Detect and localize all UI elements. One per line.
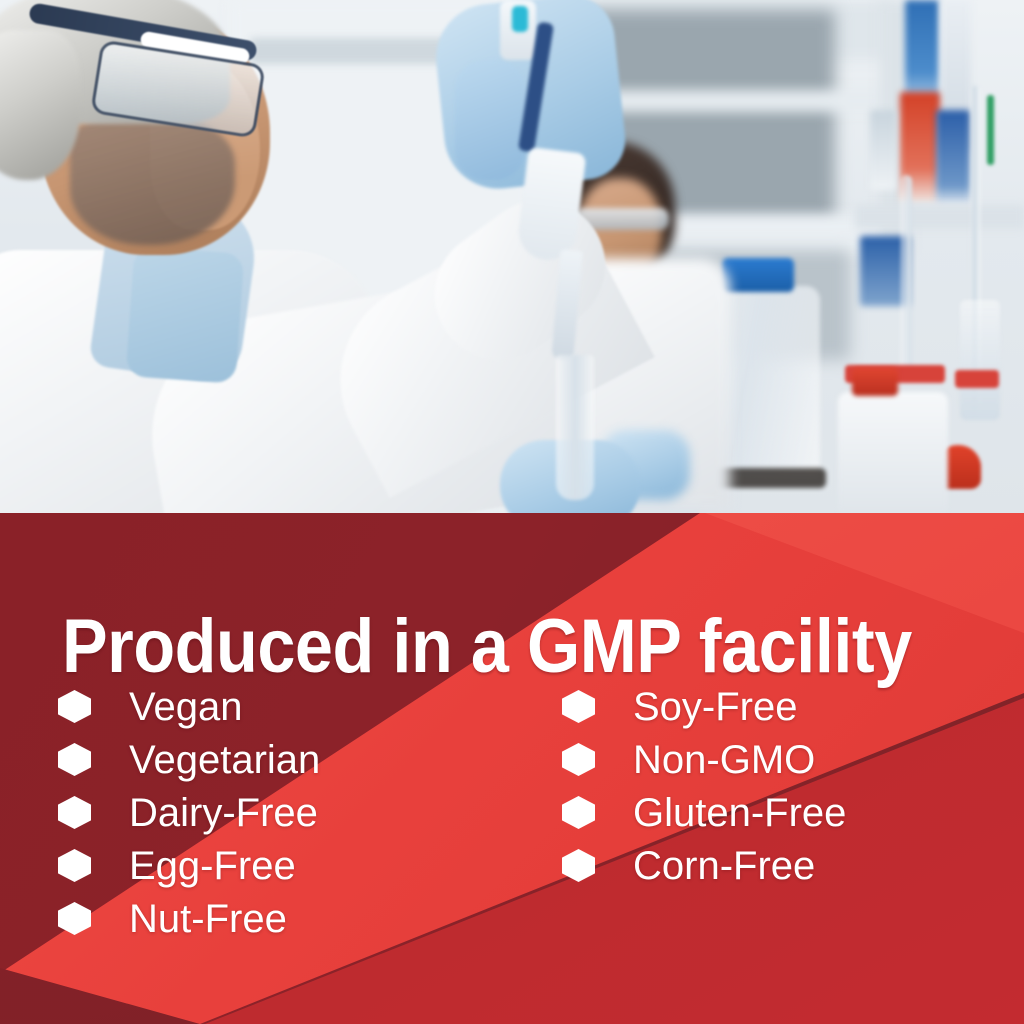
page-title: Produced in a GMP facility (62, 609, 912, 685)
glove-thumb (455, 60, 525, 180)
shelf-board (855, 205, 1024, 229)
list-item: Vegan (58, 680, 510, 733)
white-jug (838, 392, 948, 516)
test-tube (556, 355, 594, 500)
hexagon-bullet-icon (58, 690, 91, 723)
claims-column-left: Vegan Vegetarian Dairy-Free Egg-Free Nut… (0, 680, 510, 945)
hexagon-bullet-icon (562, 690, 595, 723)
hexagon-bullet-icon (562, 796, 595, 829)
jug-red-cap (852, 368, 898, 396)
claim-label: Non-GMO (633, 740, 815, 780)
glass-cylinder (960, 300, 1000, 420)
tubing (900, 175, 912, 375)
hexagon-bullet-icon (58, 743, 91, 776)
claim-label: Nut-Free (129, 899, 287, 939)
burette-green-marking (987, 95, 994, 165)
claim-label: Dairy-Free (129, 793, 318, 833)
red-clamp-2 (955, 370, 999, 388)
claims-columns: Vegan Vegetarian Dairy-Free Egg-Free Nut… (0, 680, 1024, 945)
list-item: Egg-Free (58, 839, 510, 892)
hexagon-bullet-icon (58, 849, 91, 882)
list-item: Non-GMO (562, 733, 1022, 786)
claim-label: Corn-Free (633, 846, 815, 886)
list-item: Vegetarian (58, 733, 510, 786)
list-item: Dairy-Free (58, 786, 510, 839)
bottle-blue-cap (722, 258, 794, 292)
hexagon-bullet-icon (562, 849, 595, 882)
list-item: Corn-Free (562, 839, 1022, 892)
claim-label: Egg-Free (129, 846, 296, 886)
claim-label: Vegan (129, 687, 242, 727)
hexagon-bullet-icon (562, 743, 595, 776)
shirt-placket (126, 246, 245, 383)
laboratory-photo (0, 0, 1024, 516)
promo-banner: Produced in a GMP facility Vegan Vegetar… (0, 0, 1024, 1024)
list-item: Gluten-Free (562, 786, 1022, 839)
hexagon-bullet-icon (58, 902, 91, 935)
beard (70, 120, 235, 245)
claim-label: Vegetarian (129, 740, 320, 780)
claims-column-right: Soy-Free Non-GMO Gluten-Free Corn-Free (510, 680, 1022, 945)
shelf-box-grey (870, 110, 896, 190)
pipette-plunger (512, 6, 528, 32)
shelf-box-navy (936, 110, 970, 205)
claim-label: Soy-Free (633, 687, 798, 727)
list-item: Nut-Free (58, 892, 510, 945)
list-item: Soy-Free (562, 680, 1022, 733)
claim-label: Gluten-Free (633, 793, 846, 833)
hexagon-bullet-icon (58, 796, 91, 829)
